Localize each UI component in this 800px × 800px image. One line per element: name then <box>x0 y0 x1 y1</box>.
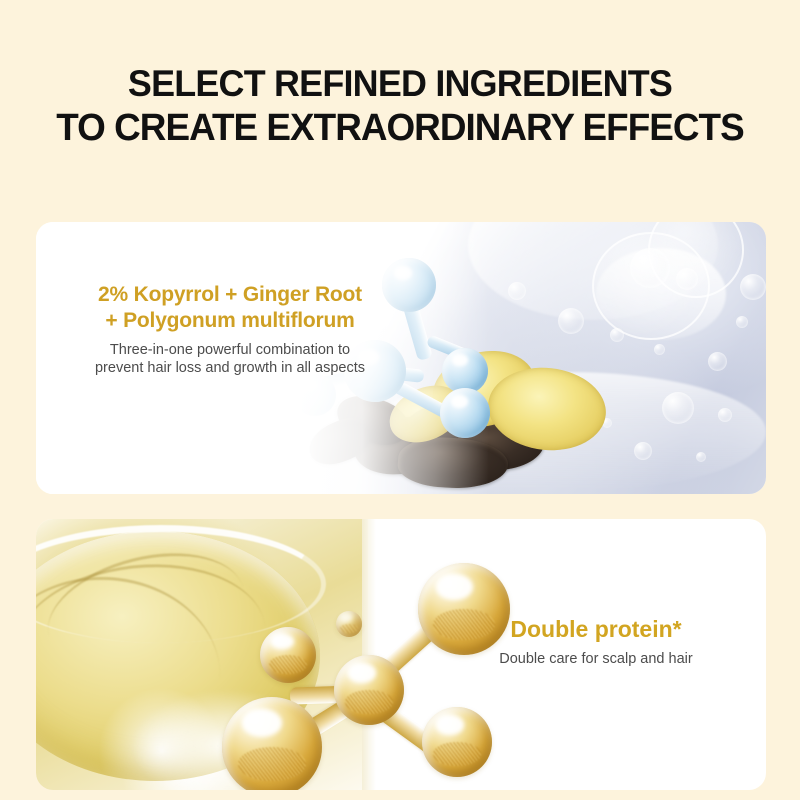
protein-heading: Double protein* <box>436 615 756 643</box>
gel-bubble <box>558 308 584 334</box>
marketing-page: SELECT REFINED INGREDIENTS TO CREATE EXT… <box>0 0 800 800</box>
ingredients-subtext-line-1: Three-in-one powerful combination to <box>110 342 350 358</box>
page-headline: SELECT REFINED INGREDIENTS TO CREATE EXT… <box>12 62 788 150</box>
molecule-node-small <box>336 611 362 637</box>
gel-bubble <box>630 248 670 288</box>
gel-bubble <box>508 282 526 300</box>
gel-bubble <box>662 392 694 424</box>
molecule-node <box>260 627 316 683</box>
gel-bubble <box>740 274 766 300</box>
molecule-node-center <box>334 655 404 725</box>
gel-bubble <box>654 344 665 355</box>
gel-bubble <box>610 328 624 342</box>
molecule-node <box>222 697 322 790</box>
ingredients-text-block: 2% Kopyrrol + Ginger Root + Polygonum mu… <box>54 282 406 377</box>
molecule-node <box>422 707 492 777</box>
gel-bubble <box>696 452 706 462</box>
gel-bubble <box>718 408 732 422</box>
protein-card: Double protein* Double care for scalp an… <box>36 519 766 790</box>
headline-line-1: SELECT REFINED INGREDIENTS <box>12 62 788 106</box>
ingredients-heading-line-2: + Polygonum multiflorum <box>105 309 354 332</box>
gel-bubble <box>736 316 748 328</box>
ingredients-heading: 2% Kopyrrol + Ginger Root + Polygonum mu… <box>54 282 406 334</box>
protein-text-block: Double protein* Double care for scalp an… <box>436 615 756 669</box>
gel-bubble <box>676 268 698 290</box>
ingredients-subtext: Three-in-one powerful combination to pre… <box>54 341 406 377</box>
gel-bubble <box>708 352 727 371</box>
gel-bubble <box>634 442 652 460</box>
protein-subtext: Double care for scalp and hair <box>436 650 756 669</box>
headline-line-2: TO CREATE EXTRAORDINARY EFFECTS <box>12 106 788 150</box>
ingredients-heading-line-1: 2% Kopyrrol + Ginger Root <box>98 283 362 306</box>
ingredients-card: 2% Kopyrrol + Ginger Root + Polygonum mu… <box>36 222 766 494</box>
ingredients-subtext-line-2: prevent hair loss and growth in all aspe… <box>95 360 365 376</box>
